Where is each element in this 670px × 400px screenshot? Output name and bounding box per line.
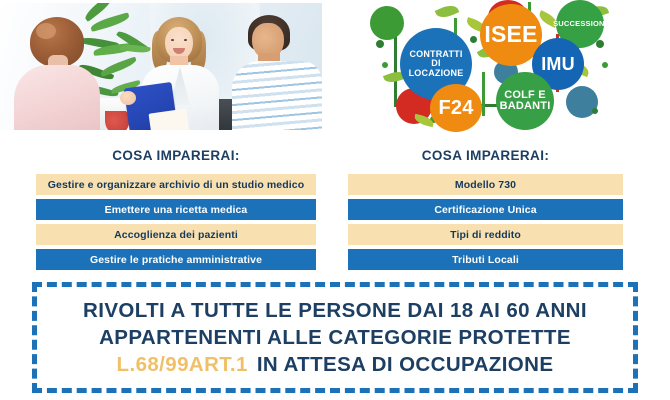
left-item-4-label: Gestire le pratiche amministrative — [90, 254, 262, 266]
accent-circle-green-topleft — [370, 6, 404, 40]
stem-colf — [482, 72, 485, 116]
accent-dot-6 — [592, 108, 598, 114]
patient-woman-body — [14, 65, 100, 130]
left-item-3-label: Accoglienza dei pazienti — [114, 229, 238, 241]
accent-dot-3 — [470, 36, 477, 43]
bubble-label: CONTRATTI DI LOCAZIONE — [405, 50, 467, 78]
banner-line-2: APPARTENENTI ALLE CATEGORIE PROTETTE — [99, 324, 571, 351]
bubble-label: IMU — [541, 55, 575, 73]
accent-dot-2 — [382, 62, 388, 68]
bubble-colf-e-badanti: COLF E BADANTI — [496, 72, 554, 130]
bubble-label: COLF E BADANTI — [500, 90, 551, 112]
right-item-1: Modello 730 — [348, 174, 623, 195]
accent-dot-4 — [596, 40, 604, 48]
patient-man-striped-shirt — [232, 61, 322, 130]
right-column-heading: COSA IMPARERAI: — [348, 148, 623, 163]
left-item-2: Emettere una ricetta medica — [36, 199, 316, 220]
bubble-label: SUCCESSIONI — [553, 20, 607, 28]
right-item-4: Tributi Locali — [348, 249, 623, 270]
bubble-f24: F24 — [430, 84, 482, 132]
right-item-1-label: Modello 730 — [455, 179, 516, 191]
right-item-4-label: Tributi Locali — [452, 254, 519, 266]
left-item-2-label: Emettere una ricetta medica — [105, 204, 248, 216]
left-item-1-label: Gestire e organizzare archivio di un stu… — [48, 179, 304, 191]
right-item-2: Certificazione Unica — [348, 199, 623, 220]
law-reference: L.68/99ART.1 — [117, 353, 248, 376]
banner-line-1: RIVOLTI A TUTTE LE PERSONE DAI 18 AI 60 … — [83, 297, 587, 324]
right-item-3-label: Tipi di reddito — [450, 229, 521, 241]
media-row: CONTRATTI DI LOCAZIONE ISEE SUCCESSIONI … — [0, 0, 670, 132]
accent-dot-1 — [376, 40, 384, 48]
doctor-eye-right — [184, 39, 187, 41]
left-item-4: Gestire le pratiche amministrative — [36, 249, 316, 270]
bubble-label: F24 — [438, 98, 473, 118]
bubble-label: ISEE — [484, 23, 537, 46]
poster-page: CONTRATTI DI LOCAZIONE ISEE SUCCESSIONI … — [0, 0, 670, 400]
consultation-photo — [0, 3, 322, 130]
doctor-eye-left — [171, 39, 174, 41]
left-column-heading: COSA IMPARERAI: — [36, 148, 316, 163]
eligibility-banner: RIVOLTI A TUTTE LE PERSONE DAI 18 AI 60 … — [32, 282, 638, 393]
left-item-3: Accoglienza dei pazienti — [36, 224, 316, 245]
tax-services-infographic: CONTRATTI DI LOCAZIONE ISEE SUCCESSIONI … — [370, 0, 665, 132]
accent-dot-5 — [602, 62, 608, 68]
doctor-hand — [120, 91, 136, 105]
left-item-1: Gestire e organizzare archivio di un stu… — [36, 174, 316, 195]
right-item-3: Tipi di reddito — [348, 224, 623, 245]
banner-line-3-rest: IN ATTESA DI OCCUPAZIONE — [257, 353, 554, 376]
banner-line-3: L.68/99ART.1IN ATTESA DI OCCUPAZIONE — [117, 351, 554, 378]
right-item-2-label: Certificazione Unica — [434, 204, 536, 216]
